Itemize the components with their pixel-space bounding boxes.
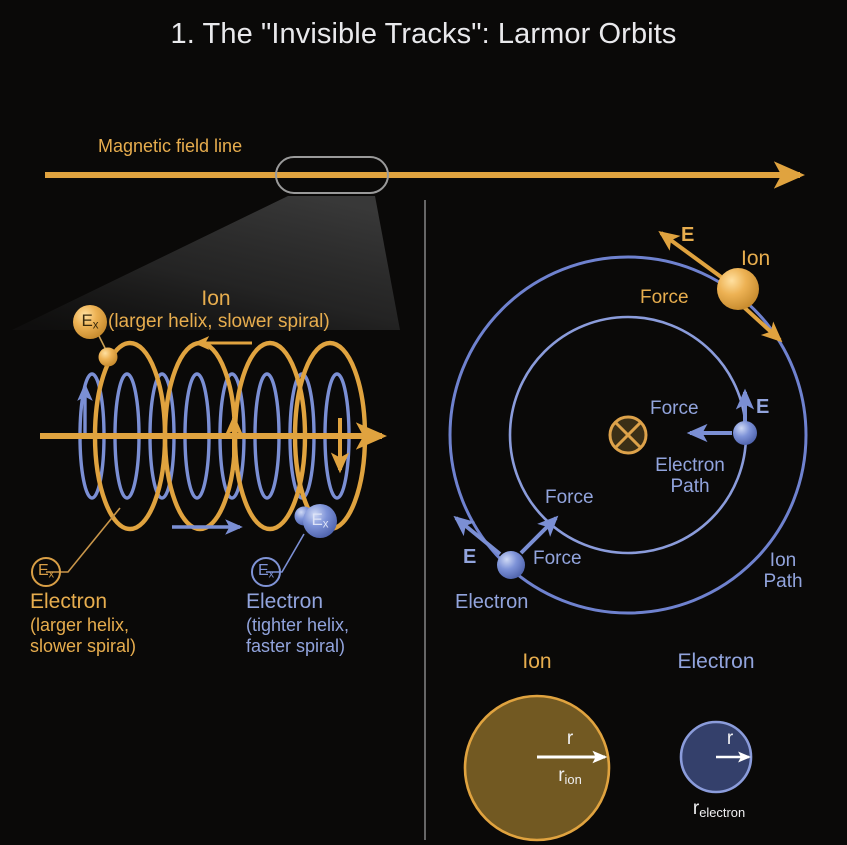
ion-ex-badge-icon[interactable] (73, 305, 107, 339)
diagram-canvas (0, 0, 847, 845)
outer-electron-particle[interactable] (497, 551, 525, 579)
slide-root: 1. The "Invisible Tracks": Larmor Orbits (0, 0, 847, 845)
helix-diagram-group (32, 305, 382, 586)
magnetic-field-line-group (45, 157, 800, 193)
ion-E-arrow (661, 233, 728, 282)
ion-particle-marker (99, 348, 118, 367)
ion-particle[interactable] (717, 268, 759, 310)
outer-electron-E-arrow (456, 518, 500, 554)
radius-comparison-group (465, 696, 751, 840)
magnifier-cone (12, 196, 400, 330)
outer-electron-force-arrow (521, 518, 556, 553)
b-field-into-page-icon (610, 417, 646, 453)
electron-ex-badge-icon[interactable] (303, 504, 337, 538)
inner-electron-particle[interactable] (733, 421, 757, 445)
ion-radius-disc (465, 696, 609, 840)
orbit-diagram-group (450, 233, 806, 613)
legend-leader-blue (266, 534, 304, 572)
